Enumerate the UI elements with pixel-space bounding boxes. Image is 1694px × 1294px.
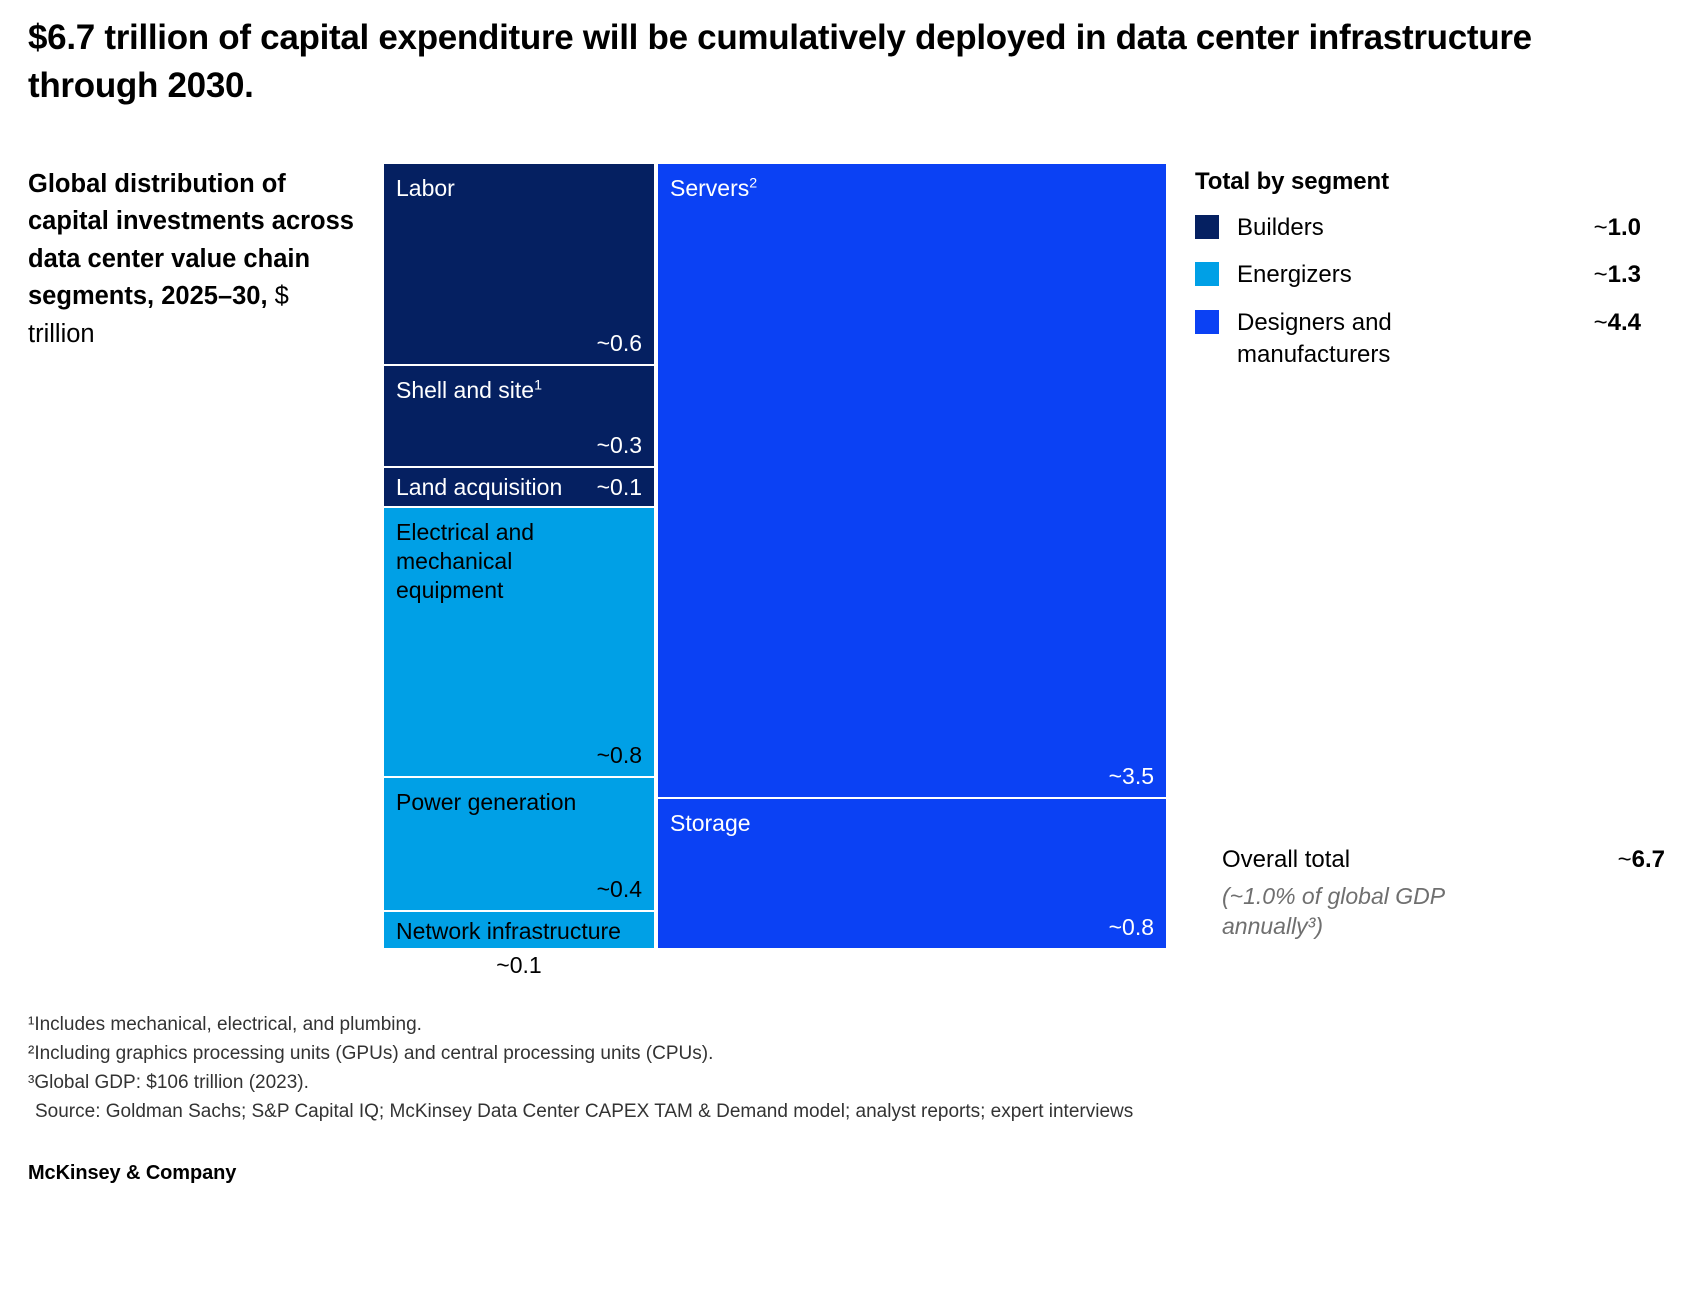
legend-item-label: Designers and manufacturers [1237, 307, 1477, 372]
legend-item-builders[interactable]: Builders ~1.0 [1195, 212, 1665, 244]
tile-label: Electrical and mechanical equipment [396, 518, 576, 605]
tile-value: ~0.4 [597, 876, 642, 904]
legend-item-label: Builders [1237, 212, 1477, 244]
tile-value: ~0.3 [597, 432, 642, 460]
tile-value: ~0.8 [597, 742, 642, 770]
footnote-2: ²Including graphics processing units (GP… [28, 1039, 1528, 1068]
chart-subtitle: Global distribution of capital investmen… [28, 166, 358, 353]
treemap-tile-labor[interactable]: Labor ~0.6 [384, 164, 654, 364]
legend-item-value: ~1.3 [1594, 259, 1641, 291]
legend-swatch-icon [1195, 310, 1219, 334]
overall-total-label: Overall total [1222, 846, 1350, 873]
overall-total-block: Overall total ~6.7 (~1.0% of global GDP … [1222, 846, 1662, 942]
treemap-column-right: Servers2 ~3.5 Storage ~0.8 [658, 164, 1166, 948]
tile-label: Servers2 [670, 174, 1154, 203]
overall-total-note: (~1.0% of global GDP annually³) [1222, 882, 1522, 942]
treemap-tile-land-acquisition[interactable]: Land acquisition ~0.1 [384, 468, 654, 506]
treemap-tile-electrical-and-mechanical-equipment[interactable]: Electrical and mechanical equipment ~0.8 [384, 508, 654, 776]
overall-total-row: Overall total ~6.7 [1222, 846, 1662, 880]
treemap-tile-network-infrastructure-value: ~0.1 [384, 952, 654, 979]
legend-item-value: ~4.4 [1594, 307, 1641, 339]
tile-value: ~0.6 [597, 330, 642, 358]
tile-label: Power generation [396, 788, 642, 817]
treemap-tile-network-infrastructure[interactable]: Network infrastructure [384, 912, 654, 948]
legend-item-label: Energizers [1237, 259, 1477, 291]
treemap-tile-shell-and-site[interactable]: Shell and site1 ~0.3 [384, 366, 654, 466]
legend-item-designers-and-manufacturers[interactable]: Designers and manufacturers ~4.4 [1195, 307, 1665, 372]
legend: Total by segment Builders ~1.0 Energizer… [1195, 168, 1665, 387]
tile-value: ~3.5 [1109, 763, 1154, 791]
legend-item-energizers[interactable]: Energizers ~1.3 [1195, 259, 1665, 291]
tile-label: Shell and site1 [396, 376, 642, 405]
tile-value: ~0.8 [1109, 914, 1154, 942]
footnote-3: ³Global GDP: $106 trillion (2023). [28, 1068, 1528, 1097]
footnote-marker: 2 [749, 175, 757, 191]
legend-title: Total by segment [1195, 168, 1665, 196]
brand-mckinsey: McKinsey & Company [28, 1162, 236, 1185]
tile-label: Network infrastructure [396, 917, 642, 946]
source-line: Source: Goldman Sachs; S&P Capital IQ; M… [28, 1097, 1528, 1126]
footnote-1: ¹Includes mechanical, electrical, and pl… [28, 1010, 1528, 1039]
legend-swatch-icon [1195, 215, 1219, 239]
overall-total-value: ~6.7 [1618, 846, 1665, 874]
treemap-chart: Labor ~0.6 Shell and site1 ~0.3 Land acq… [384, 164, 1166, 948]
legend-item-value: ~1.0 [1594, 212, 1641, 244]
treemap-tile-servers[interactable]: Servers2 ~3.5 [658, 164, 1166, 797]
tile-label: Labor [396, 174, 642, 203]
footnote-marker: 1 [534, 377, 542, 393]
chart-subtitle-bold: Global distribution of capital investmen… [28, 170, 354, 310]
tile-label: Storage [670, 809, 1154, 838]
treemap-tile-power-generation[interactable]: Power generation ~0.4 [384, 778, 654, 910]
treemap-column-left: Labor ~0.6 Shell and site1 ~0.3 Land acq… [384, 164, 654, 948]
legend-swatch-icon [1195, 262, 1219, 286]
tile-value: ~0.1 [597, 473, 642, 502]
page-title: $6.7 trillion of capital expenditure wil… [28, 14, 1588, 109]
treemap-tile-storage[interactable]: Storage ~0.8 [658, 799, 1166, 948]
footnotes: ¹Includes mechanical, electrical, and pl… [28, 1010, 1528, 1126]
